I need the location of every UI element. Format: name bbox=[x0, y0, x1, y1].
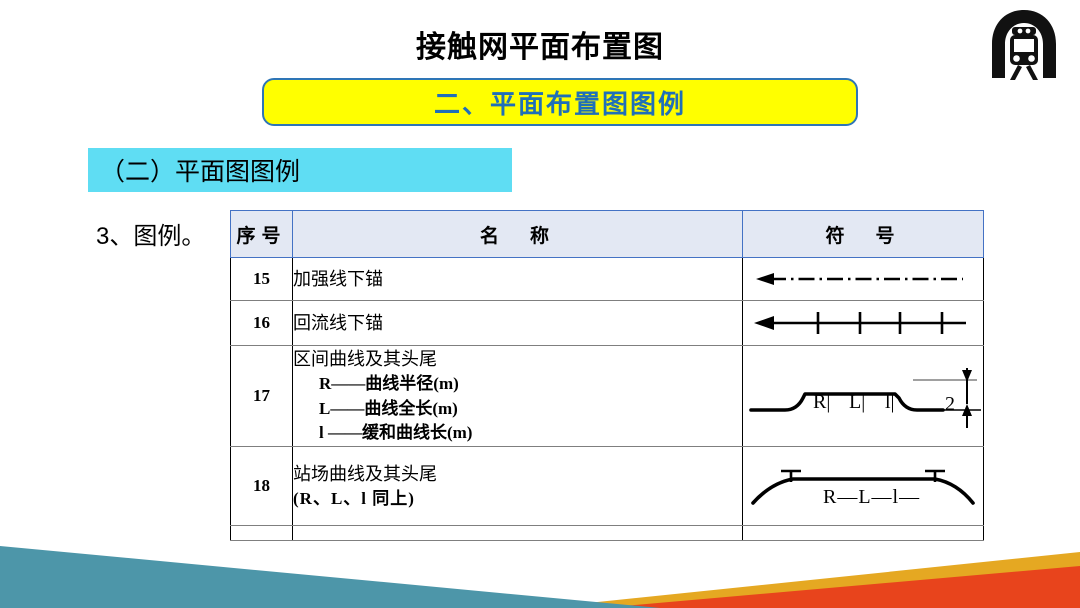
symbol-label: R—L—l— bbox=[823, 486, 920, 508]
row-name-line: L——曲线全长(m) bbox=[293, 397, 742, 422]
row-name: 加强线下锚 bbox=[293, 258, 743, 301]
footer-decoration bbox=[0, 524, 1080, 608]
row-symbol-section-curve: R| L| l| 2 bbox=[743, 346, 984, 447]
row-symbol-line-with-ticks bbox=[743, 301, 984, 346]
table-row: 16 回流线下锚 bbox=[231, 301, 984, 346]
column-header-no: 序号 bbox=[231, 211, 293, 258]
page-title: 接触网平面布置图 bbox=[0, 22, 1080, 66]
symbol-label: R| bbox=[813, 391, 830, 413]
section-banner-text: 二、平面布置图图例 bbox=[434, 84, 686, 121]
legend-table: 序号 名 称 符 号 15 加强线下锚 bbox=[230, 210, 984, 541]
row-name-line: R——曲线半径(m) bbox=[293, 372, 742, 397]
symbol-label: l| bbox=[885, 391, 895, 413]
row-name-line: 加强线下锚 bbox=[293, 269, 383, 289]
section-banner: 二、平面布置图图例 bbox=[262, 78, 858, 126]
row-symbol-station-curve: R—L—l— bbox=[743, 447, 984, 526]
row-symbol-dash-dot-arrow bbox=[743, 258, 984, 301]
row-name: 区间曲线及其头尾 R——曲线半径(m) L——曲线全长(m) l ——缓和曲线长… bbox=[293, 346, 743, 447]
row-number: 18 bbox=[231, 447, 293, 526]
row-name-line: 区间曲线及其头尾 bbox=[293, 349, 437, 369]
table-header-row: 序号 名 称 符 号 bbox=[231, 211, 984, 258]
table-row: 15 加强线下锚 bbox=[231, 258, 984, 301]
metro-train-tunnel-icon bbox=[988, 8, 1060, 80]
symbol-label: L| bbox=[849, 391, 865, 413]
subsection-bar: （二）平面图图例 bbox=[88, 148, 512, 192]
row-number: 17 bbox=[231, 346, 293, 447]
row-number: 15 bbox=[231, 258, 293, 301]
row-name-line: (R、L、l 同上) bbox=[293, 487, 742, 512]
row-name: 站场曲线及其头尾 (R、L、l 同上) bbox=[293, 447, 743, 526]
symbol-dimension: 2 bbox=[945, 393, 955, 415]
list-item-label: 3、图例。 bbox=[96, 216, 205, 251]
row-name: 回流线下锚 bbox=[293, 301, 743, 346]
slide-canvas: 接触网平面布置图 二、平面布置图图例 （二）平面图图例 3、图例。 bbox=[0, 0, 1080, 608]
row-name-line: l ——缓和曲线长(m) bbox=[293, 421, 742, 446]
row-name-line: 回流线下锚 bbox=[293, 313, 383, 333]
table-row: 17 区间曲线及其头尾 R——曲线半径(m) L——曲线全长(m) l ——缓和… bbox=[231, 346, 984, 447]
row-number: 16 bbox=[231, 301, 293, 346]
column-header-symbol: 符 号 bbox=[743, 211, 984, 258]
table-row: 18 站场曲线及其头尾 (R、L、l 同上) R—L—l— bbox=[231, 447, 984, 526]
row-name-line: 站场曲线及其头尾 bbox=[293, 464, 437, 484]
footer-teal-shape bbox=[0, 546, 660, 608]
subsection-bar-text: （二）平面图图例 bbox=[88, 152, 300, 188]
column-header-name: 名 称 bbox=[293, 211, 743, 258]
